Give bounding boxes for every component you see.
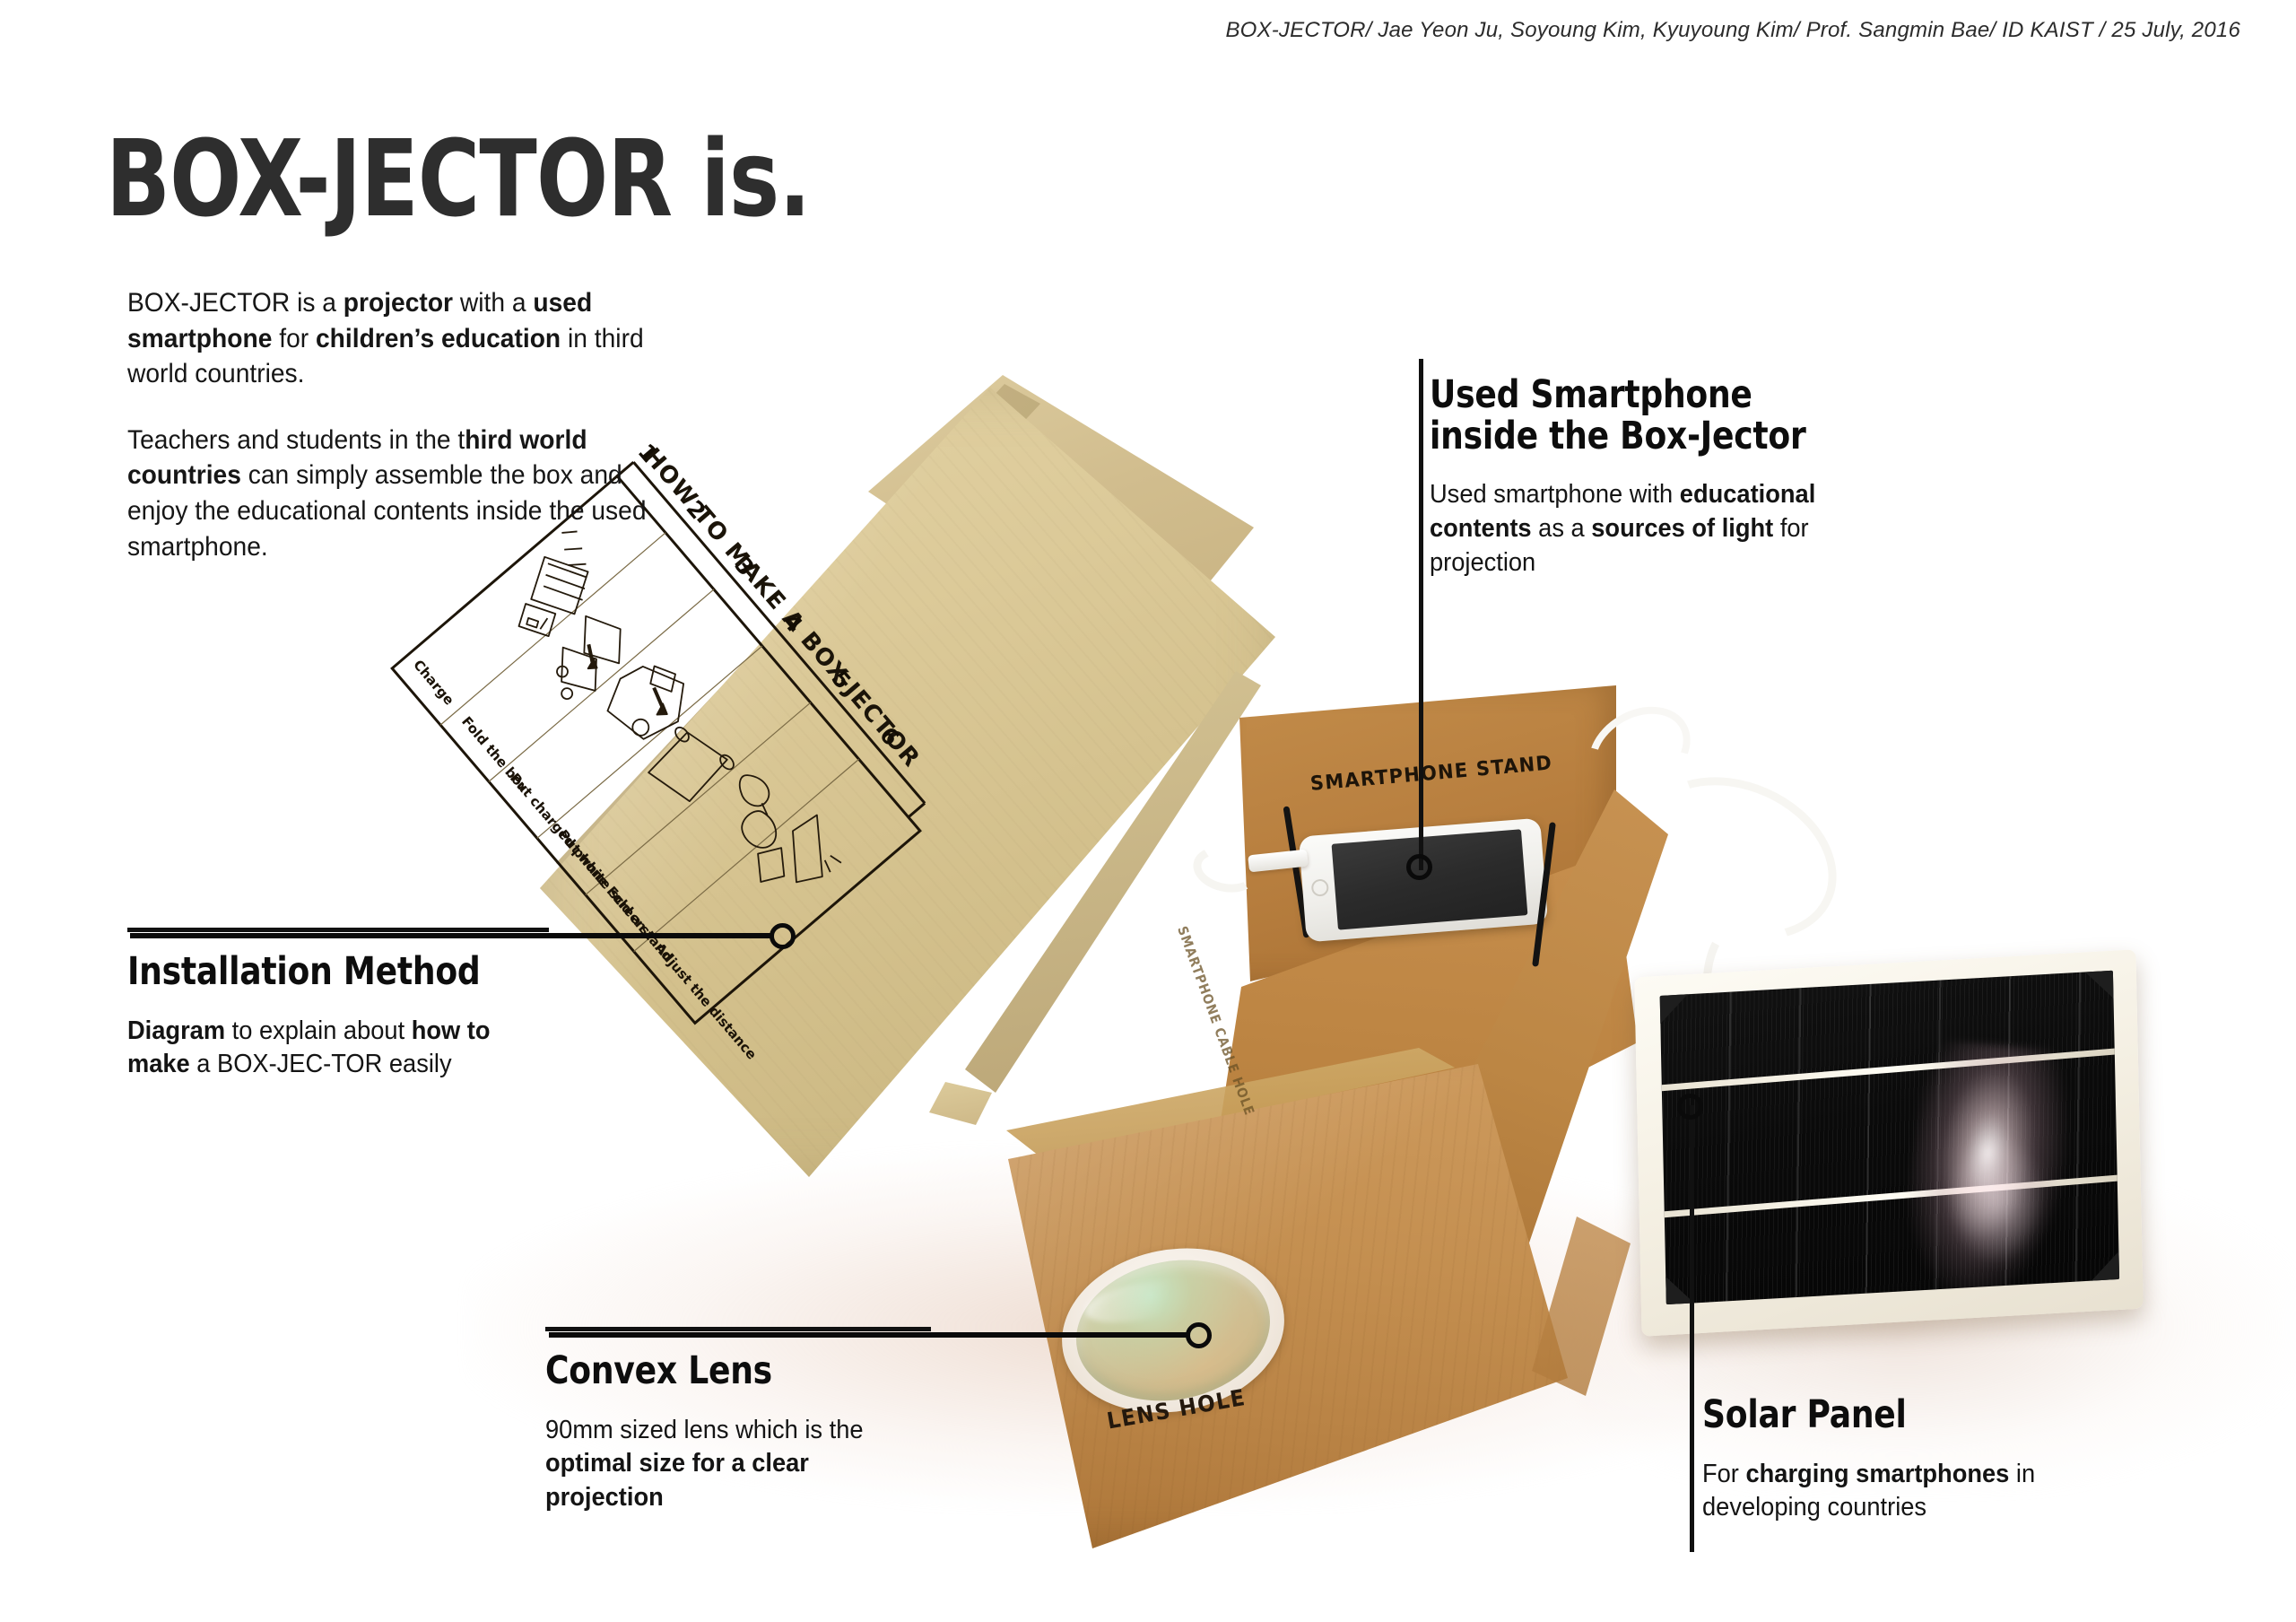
intro-copy: BOX-JECTOR is a projector with a used sm…: [127, 285, 683, 564]
callout-body-solar-panel: For charging smartphones in developing c…: [1702, 1458, 2158, 1525]
callout-heading-convex-lens: Convex Lens: [545, 1351, 869, 1392]
leader-dot-installation: [770, 923, 796, 949]
callout-body-convex-lens: 90mm sized lens which is the optimal siz…: [545, 1414, 908, 1515]
phone-home-button-icon: [1311, 878, 1329, 896]
solar-cell-chamfer: [1660, 971, 1688, 1024]
installation-post: a BOX-JEC-TOR easily: [190, 1050, 452, 1078]
solar-panel-cells: [1660, 971, 2119, 1304]
diagram-step-label-2: Fold the box: [458, 713, 532, 796]
intro-paragraph-1: BOX-JECTOR is a projector with a used sm…: [127, 285, 683, 392]
solar-panel-pre: For: [1702, 1460, 1745, 1488]
diagram-step-number-2: 2: [681, 495, 710, 524]
used-smartphone-pre: Used smartphone with: [1430, 480, 1680, 509]
solar-panel-glare: [1895, 1039, 2087, 1304]
leader-dot-used-smartphone: [1406, 854, 1432, 880]
convex-lens-pre: 90mm sized lens which is the: [545, 1416, 864, 1444]
phone-screen: [1332, 829, 1528, 929]
callout-installation-method: Installation Method Diagram to explain a…: [127, 928, 549, 1082]
solar-panel: [1634, 949, 2144, 1336]
callout-rule-vertical-solar: [1690, 1105, 1694, 1552]
callout-body-installation: Diagram to explain about how to make a B…: [127, 1015, 524, 1082]
callout-rule-vertical-smartphone: [1419, 359, 1423, 870]
callout-used-smartphone: Used Smartphone inside the Box-Jector Us…: [1430, 355, 1932, 580]
intro-p1-bold-3: children’s education: [316, 324, 561, 353]
diagram-pictogram-fold-box: [533, 605, 640, 710]
page-title: BOX-JECTOR is.: [106, 126, 810, 231]
callout-solar-panel: Solar Panel For charging smartphones in …: [1702, 1395, 2187, 1525]
solar-cell-chamfer: [2085, 971, 2119, 998]
smartphone: [1299, 818, 1548, 943]
diagram-step-label-1: Charge: [410, 657, 457, 708]
intro-p1-mid-1: with a: [453, 288, 533, 318]
solar-panel-bold-1: charging smartphones: [1745, 1460, 2009, 1488]
intro-paragraph-2: Teachers and students in the third world…: [127, 423, 683, 564]
intro-p1-pre: BOX-JECTOR is a: [127, 288, 344, 318]
callout-heading-used-smartphone: Used Smartphone inside the Box-Jector: [1430, 375, 1851, 457]
intro-p1-bold-1: projector: [344, 288, 453, 318]
callout-convex-lens: Convex Lens 90mm sized lens which is the…: [545, 1327, 931, 1515]
callout-rule: [127, 928, 549, 932]
solar-panel-glare-secondary: [1945, 1129, 2047, 1269]
leader-dot-convex-lens: [1186, 1322, 1212, 1348]
installation-bold-1: Diagram: [127, 1016, 225, 1045]
callout-rule: [545, 1327, 931, 1331]
used-smartphone-bold-2: sources of light: [1591, 514, 1773, 543]
poster-canvas: HOW TO MAKE A BOX-JECTOR 1 2 3 4: [0, 0, 2296, 1622]
intro-p2-pre: Teachers and students in the t: [127, 425, 465, 455]
callout-heading-installation: Installation Method: [127, 952, 482, 993]
solar-cell-chamfer: [2092, 1251, 2119, 1304]
product-photo-scene: HOW TO MAKE A BOX-JECTOR 1 2 3 4: [0, 0, 2296, 1622]
installation-mid-1: to explain about: [225, 1016, 412, 1045]
callout-heading-solar-panel: Solar Panel: [1702, 1395, 2109, 1436]
callout-body-used-smartphone: Used smartphone with educational content…: [1430, 478, 1901, 580]
used-smartphone-mid: as a: [1532, 514, 1592, 543]
convex-lens-bold-1: optimal size for a clear projection: [545, 1449, 809, 1512]
leader-dot-solar-panel: [1677, 1094, 1703, 1120]
intro-p1-mid-2: for: [272, 324, 316, 353]
solar-busbar-upper: [1660, 1048, 2119, 1092]
cardboard-chip: [929, 1082, 992, 1125]
credit-line: BOX-JECTOR/ Jae Yeon Ju, Soyoung Kim, Ky…: [1225, 18, 2240, 43]
solar-busbar-lower: [1660, 1174, 2119, 1218]
diagram-step-number-3: 3: [729, 552, 759, 580]
